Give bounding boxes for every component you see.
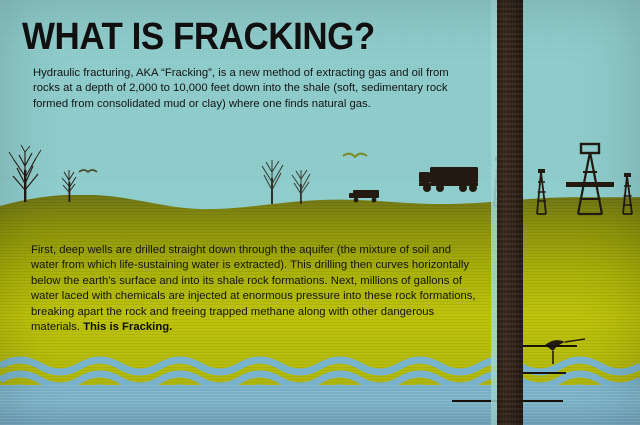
horizon-hill xyxy=(0,182,640,222)
wave-line xyxy=(0,360,640,372)
fracture-branch xyxy=(520,372,566,374)
wellbore xyxy=(497,0,523,425)
detail-emphasis: This is Fracking. xyxy=(83,321,172,333)
intro-paragraph: Hydraulic fracturing, AKA “Fracking”, is… xyxy=(33,66,463,112)
infographic-poster: WHAT IS FRACKING? Hydraulic fracturing, … xyxy=(0,0,640,425)
detail-paragraph: First, deep wells are drilled straight d… xyxy=(31,243,481,335)
detail-body: First, deep wells are drilled straight d… xyxy=(31,244,476,333)
water-table xyxy=(0,385,640,425)
page-title: WHAT IS FRACKING? xyxy=(22,18,375,56)
